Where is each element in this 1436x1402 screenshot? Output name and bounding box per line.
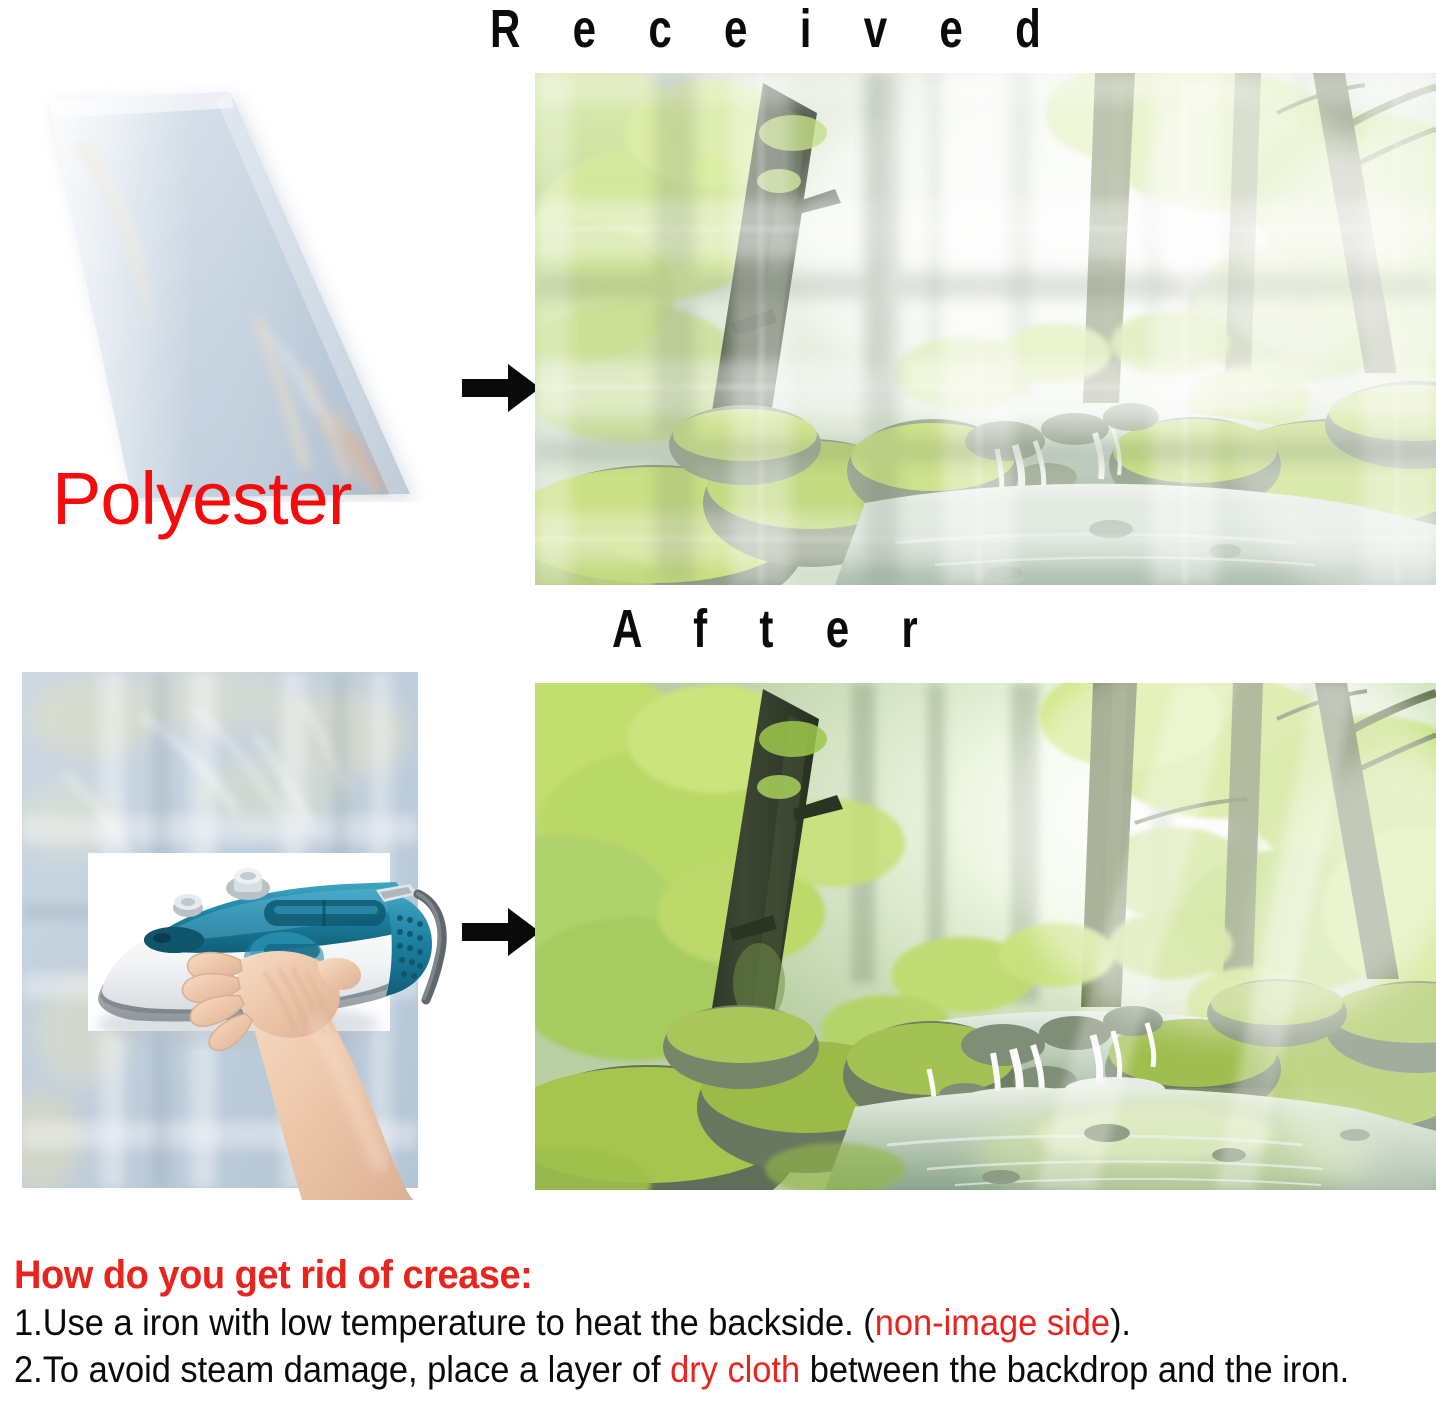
right-arrow-icon — [462, 906, 540, 958]
photo-received-creased — [535, 73, 1436, 585]
photo-after-smooth — [535, 683, 1436, 1190]
instruction-1-text-before: 1.Use a iron with low temperature to hea… — [14, 1302, 875, 1343]
steam-iron-with-hand — [88, 848, 448, 1200]
instruction-1-highlight: non-image side — [875, 1302, 1110, 1343]
instruction-2-highlight: dry cloth — [670, 1349, 800, 1390]
instructions-heading: How do you get rid of crease: — [14, 1252, 1361, 1298]
section-title-received: R e c e i v e d — [490, 0, 1061, 60]
polyester-label: Polyester — [52, 462, 351, 536]
instruction-2-text-after: between the backdrop and the iron. — [800, 1349, 1349, 1390]
instruction-1-text-after: ). — [1110, 1302, 1131, 1343]
instruction-line-2: 2.To avoid steam damage, place a layer o… — [14, 1348, 1333, 1392]
right-arrow-icon — [462, 362, 540, 414]
instruction-2-text-before: 2.To avoid steam damage, place a layer o… — [14, 1349, 670, 1390]
section-title-after: A f t e r — [612, 598, 938, 660]
infographic-stage: R e c e i v e d — [0, 0, 1436, 1402]
folded-fabric-swatch — [18, 82, 428, 502]
care-instructions: How do you get rid of crease: 1.Use a ir… — [14, 1252, 1432, 1393]
instruction-line-1: 1.Use a iron with low temperature to hea… — [14, 1301, 1333, 1345]
